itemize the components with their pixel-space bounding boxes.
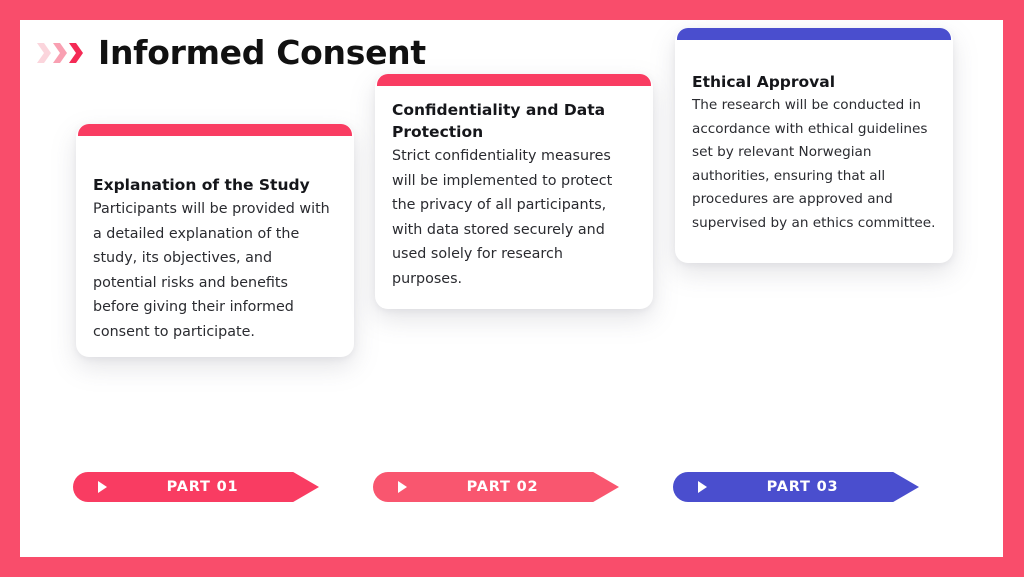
card-heading: Ethical Approval: [692, 71, 936, 93]
card-ethical-approval: Ethical Approval The research will be co…: [675, 28, 953, 263]
chevron-shape-3: [69, 43, 83, 63]
card-description: The research will be conducted in accord…: [692, 94, 936, 235]
chevron-right-icon-solid: [69, 42, 84, 64]
part-ribbon-03[interactable]: PART 03: [673, 472, 919, 502]
card-heading: Explanation of the Study: [93, 174, 337, 196]
part-ribbon-label: PART 01: [112, 479, 293, 495]
play-icon: [92, 477, 112, 497]
chevron-right-icon-light: [37, 42, 52, 64]
play-triangle: [398, 481, 407, 493]
card-description: Strict confidentiality measures will be …: [392, 144, 636, 291]
part-ribbon-02[interactable]: PART 02: [373, 472, 619, 502]
card-heading: Confidentiality and Data Protection: [392, 99, 636, 143]
part-ribbon-label: PART 03: [712, 479, 893, 495]
card-confidentiality-and-data-protection: Confidentiality and Data Protection Stri…: [375, 74, 653, 309]
card-content: Confidentiality and Data Protection Stri…: [375, 86, 653, 291]
card-content: Ethical Approval The research will be co…: [675, 40, 953, 235]
slide-frame: Informed Consent Explanation of the Stud…: [0, 0, 1024, 577]
chevron-shape-2: [53, 43, 67, 63]
card-accent-bar: [377, 74, 651, 86]
card-explanation-of-the-study: Explanation of the Study Participants wi…: [76, 124, 354, 357]
card-content: Explanation of the Study Participants wi…: [76, 136, 354, 344]
play-triangle: [698, 481, 707, 493]
page-header: Informed Consent: [37, 22, 426, 82]
play-icon: [692, 477, 712, 497]
slide-canvas: Informed Consent Explanation of the Stud…: [20, 20, 1003, 557]
play-triangle: [98, 481, 107, 493]
card-accent-bar: [677, 28, 951, 40]
chevron-shape-1: [37, 43, 51, 63]
chevron-right-icon-medium: [53, 42, 68, 64]
part-ribbon-label: PART 02: [412, 479, 593, 495]
chevron-decoration-group: [37, 42, 84, 64]
page-title: Informed Consent: [98, 36, 426, 69]
play-icon: [392, 477, 412, 497]
part-ribbon-01[interactable]: PART 01: [73, 472, 319, 502]
card-accent-bar: [78, 124, 352, 136]
card-description: Participants will be provided with a det…: [93, 197, 337, 344]
